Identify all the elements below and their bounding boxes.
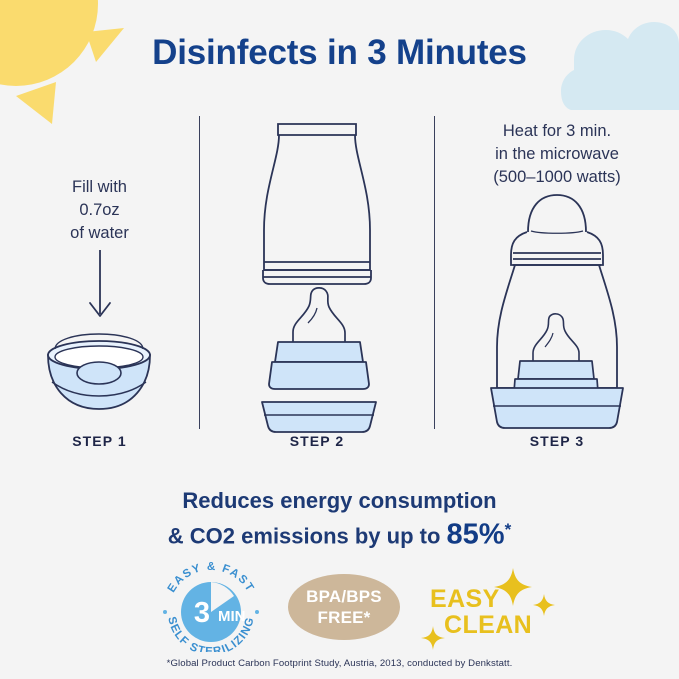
badge-3min-self-sterilizing: EASY & FAST SELF STERILIZING 3 MIN	[152, 562, 270, 652]
badge-easy-clean: EASY CLEAN	[420, 564, 565, 654]
step-2-illustration	[200, 110, 434, 435]
step-1-illustration	[0, 250, 199, 420]
badge-clean-line-2: CLEAN	[430, 612, 550, 638]
infographic-page: Disinfects in 3 Minutes Fill with 0.7oz …	[0, 0, 679, 679]
claim-asterisk: *	[505, 520, 512, 539]
badge-3min-unit: MIN	[218, 608, 246, 625]
step-1-caption-line-2: 0.7oz	[0, 199, 199, 222]
step-2-label: STEP 2	[200, 433, 434, 449]
step-3-caption-line-1: Heat for 3 min.	[435, 120, 679, 143]
assembled-base-icon	[491, 388, 623, 428]
badge-easy-clean-text: EASY CLEAN	[430, 586, 550, 638]
badge-clean-line-1: EASY	[430, 585, 500, 613]
bottle-teat-icon	[293, 288, 345, 342]
step-3-caption: Heat for 3 min. in the microwave (500–10…	[435, 120, 679, 189]
badge-row: EASY & FAST SELF STERILIZING 3 MIN BPA/B…	[0, 562, 679, 652]
bottle-cap-icon	[263, 124, 371, 284]
claim-line-2: & CO2 emissions by up to 85%*	[0, 515, 679, 550]
water-bowl-icon	[48, 334, 150, 409]
step-3-illustration	[435, 185, 679, 440]
step-column-2: STEP 2	[200, 110, 434, 455]
step-1-caption-line-1: Fill with	[0, 176, 199, 199]
step-3-caption-line-2: in the microwave	[435, 143, 679, 166]
page-title: Disinfects in 3 Minutes	[0, 33, 679, 73]
badge-3min-value: 3	[194, 597, 210, 629]
step-1-caption-line-3: of water	[0, 222, 199, 245]
footnote: *Global Product Carbon Footprint Study, …	[0, 658, 679, 669]
energy-claim: Reduces energy consumption & CO2 emissio…	[0, 486, 679, 550]
down-arrow-icon	[90, 250, 110, 316]
claim-percent-value: 85%	[447, 518, 505, 550]
bottle-base-icon	[262, 402, 376, 432]
step-1-label: STEP 1	[0, 433, 199, 449]
step-3-label: STEP 3	[435, 433, 679, 449]
claim-line-1: Reduces energy consumption	[0, 486, 679, 515]
badge-bpa-bps-free: BPA/BPS FREE*	[288, 574, 400, 640]
inner-teat-icon	[533, 314, 579, 361]
step-column-1: Fill with 0.7oz of water	[0, 110, 199, 455]
assembled-bottle-cap-icon	[511, 195, 603, 265]
claim-line-2-prefix: & CO2 emissions by up to	[168, 523, 447, 548]
bottle-ring-icon	[269, 342, 369, 389]
step-column-3: Heat for 3 min. in the microwave (500–10…	[435, 110, 679, 455]
step-1-caption: Fill with 0.7oz of water	[0, 176, 199, 245]
